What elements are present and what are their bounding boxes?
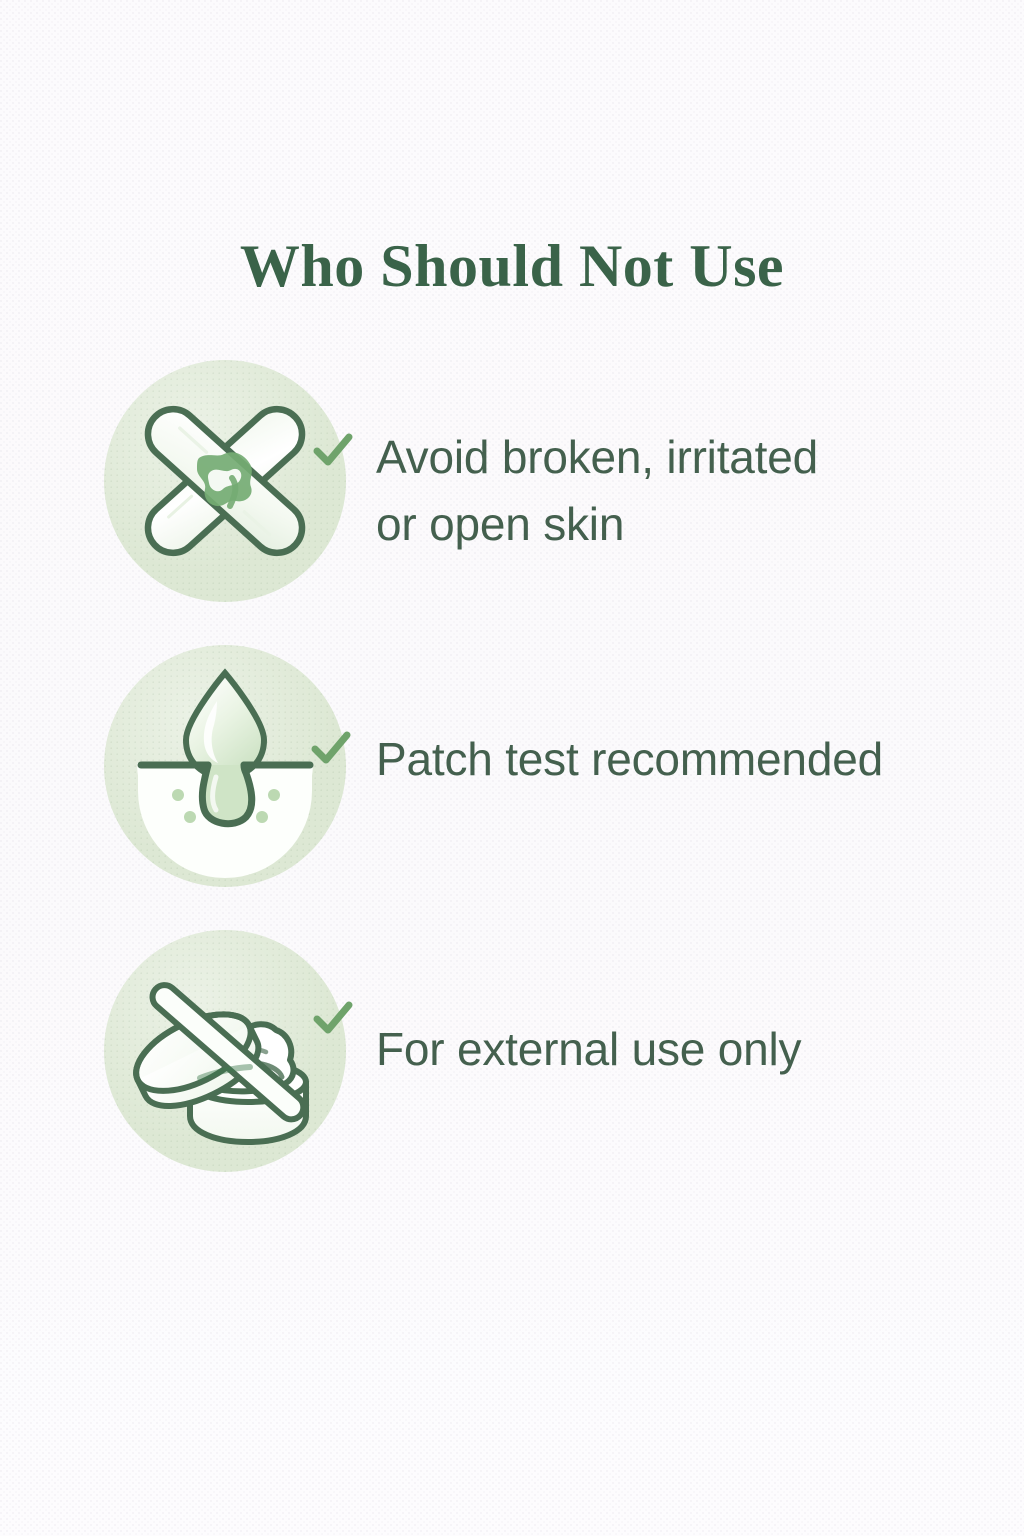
icon-badge [104,360,346,602]
droplet-skin-absorption-icon [104,645,346,887]
icon-badge [104,645,346,887]
list-item-label-line-1: For external use only [376,1016,996,1083]
bandage-cross-icon [104,360,346,602]
list-item-label-line-1: Patch test recommended [376,726,996,793]
list-item-label-line-1: Avoid broken, irritated [376,424,996,491]
icon-badge [104,930,346,1172]
list-item-label: Patch test recommended [376,726,996,793]
cream-jar-spatula-icon [104,930,346,1172]
list-item-label-line-2: or open skin [376,491,996,558]
list-item-label: For external use only [376,1016,996,1083]
list-item-label: Avoid broken, irritated or open skin [376,424,996,557]
